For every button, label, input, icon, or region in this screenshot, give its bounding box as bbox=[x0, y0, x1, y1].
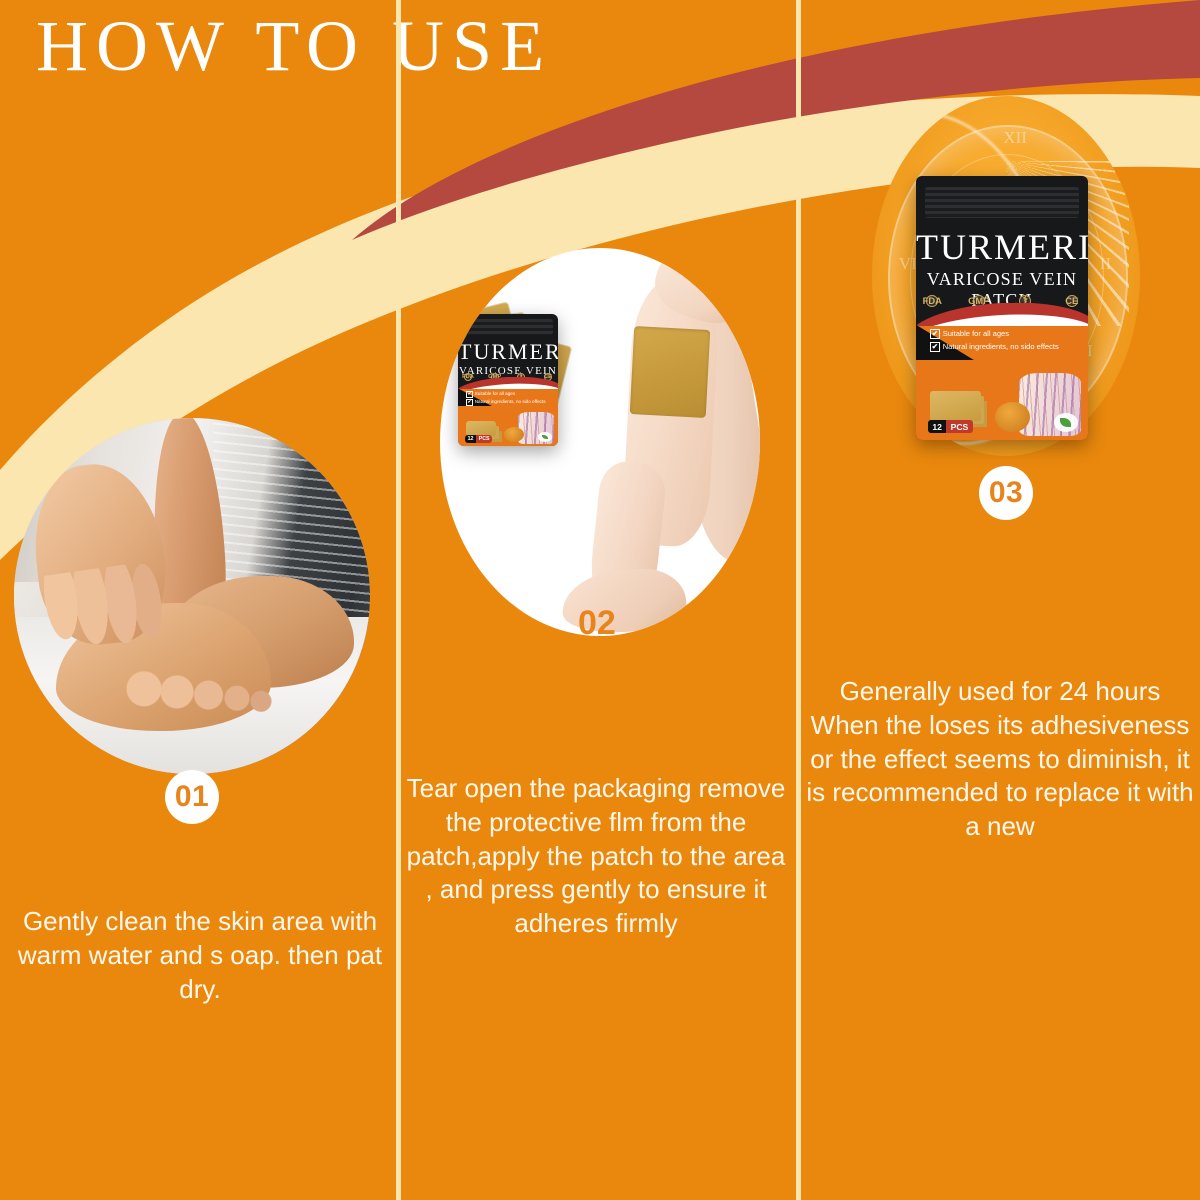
check-icon: ✔ bbox=[466, 391, 473, 398]
check-icon: ✔ bbox=[466, 399, 473, 406]
package-count-unit: PCS bbox=[476, 435, 492, 443]
step-2-number-badge: 02 bbox=[578, 604, 616, 643]
step-1-image bbox=[14, 418, 370, 774]
applied-patch bbox=[630, 326, 711, 418]
leaf-icon bbox=[538, 432, 552, 442]
check-icon: ✔ bbox=[930, 329, 940, 339]
feature-text: Suitable for all ages bbox=[475, 391, 516, 398]
column-divider-1 bbox=[396, 0, 401, 1200]
feature-row: ✔ Suitable for all ages bbox=[930, 329, 1059, 339]
package-features: ✔ Suitable for all ages ✔ Natural ingred… bbox=[930, 329, 1059, 355]
package-count-unit: PCS bbox=[946, 420, 972, 433]
step-2-caption: Tear open the packaging remove the prote… bbox=[404, 772, 788, 941]
check-icon: ✔ bbox=[930, 342, 940, 352]
leaf-icon bbox=[1054, 413, 1078, 432]
page-title: HOW TO USE bbox=[36, 10, 552, 82]
step-3-number-badge: 03 bbox=[979, 466, 1033, 520]
turmeric-root-illustration bbox=[995, 402, 1029, 432]
infographic-canvas: HOW TO USE 01 Gently clean the skin area… bbox=[0, 0, 1200, 1200]
turmeric-root-illustration bbox=[504, 427, 524, 442]
numeral: XII bbox=[1003, 128, 1027, 148]
step-3-caption: Generally used for 24 hours When the los… bbox=[804, 675, 1196, 844]
feature-row: ✔ Natural ingredients, no sido effects bbox=[930, 342, 1059, 352]
package-features: ✔ Suitable for all ages ✔ Natural ingred… bbox=[466, 391, 546, 408]
feature-text: Suitable for all ages bbox=[943, 329, 1009, 339]
patch-stack-illustration bbox=[930, 391, 982, 421]
feature-text: Natural ingredients, no sido effects bbox=[943, 342, 1059, 352]
column-divider-2 bbox=[796, 0, 801, 1200]
package-count: 12 bbox=[928, 420, 946, 433]
step-1-caption: Gently clean the skin area with warm wat… bbox=[8, 905, 392, 1006]
product-package-small: TURMERIC VARICOSE VEIN PATCH FDA GMP ⚕ C… bbox=[458, 314, 558, 446]
numeral: II bbox=[1100, 254, 1111, 274]
package-brand: TURMERIC bbox=[458, 340, 558, 363]
product-package-large: TURMERIC VARICOSE VEIN PATCH FDA GMP ⚕ C… bbox=[916, 176, 1088, 440]
feature-text: Natural ingredients, no sido effects bbox=[475, 399, 546, 406]
package-count-badge: 12 PCS bbox=[465, 435, 492, 443]
package-zip bbox=[463, 319, 553, 335]
fingers bbox=[39, 560, 168, 662]
numeral: VI bbox=[899, 254, 917, 274]
feature-row: ✔ Natural ingredients, no sido effects bbox=[466, 399, 546, 406]
package-zip bbox=[925, 187, 1080, 219]
step-1-number-badge: 01 bbox=[165, 770, 219, 824]
toes bbox=[126, 668, 276, 720]
package-count: 12 bbox=[465, 435, 476, 443]
step-2-image: TURMERIC VARICOSE VEIN PATCH FDA GMP ⚕ C… bbox=[440, 248, 760, 636]
package-brand: TURMERIC bbox=[916, 229, 1088, 267]
feature-row: ✔ Suitable for all ages bbox=[466, 391, 546, 398]
package-count-badge: 12 PCS bbox=[928, 420, 973, 433]
